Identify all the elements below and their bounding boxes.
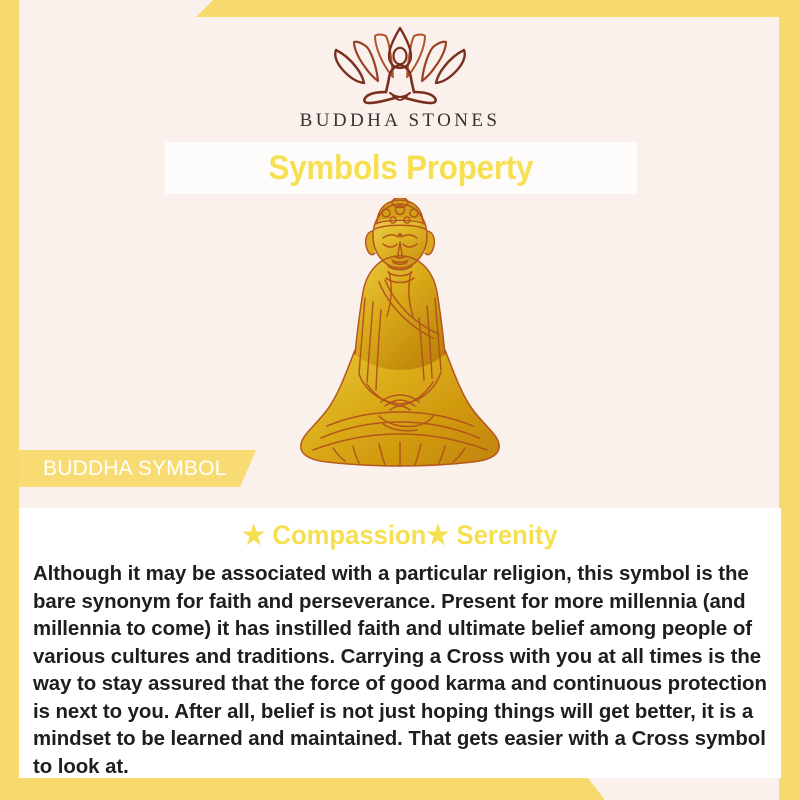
seated-buddha-statue-illustration [293, 198, 508, 493]
infographic-page: BUDDHA STONES Symbols Property [0, 0, 800, 800]
content-subheading: ★ Compassion★ Serenity [38, 520, 762, 551]
page-title-band: Symbols Property [165, 142, 637, 194]
brand-header: BUDDHA STONES [0, 22, 800, 132]
brand-name: BUDDHA STONES [0, 110, 800, 132]
content-panel: ★ Compassion★ Serenity Although it may b… [19, 508, 781, 778]
category-ribbon-label: BUDDHA SYMBOL [19, 457, 226, 481]
page-title: Symbols Property [269, 149, 534, 188]
decorative-top-bar [0, 0, 800, 17]
category-ribbon: BUDDHA SYMBOL [19, 450, 256, 487]
lotus-meditation-icon [320, 22, 480, 108]
content-paragraph: Although it may be associated with a par… [33, 561, 767, 781]
hero-image [0, 198, 800, 493]
